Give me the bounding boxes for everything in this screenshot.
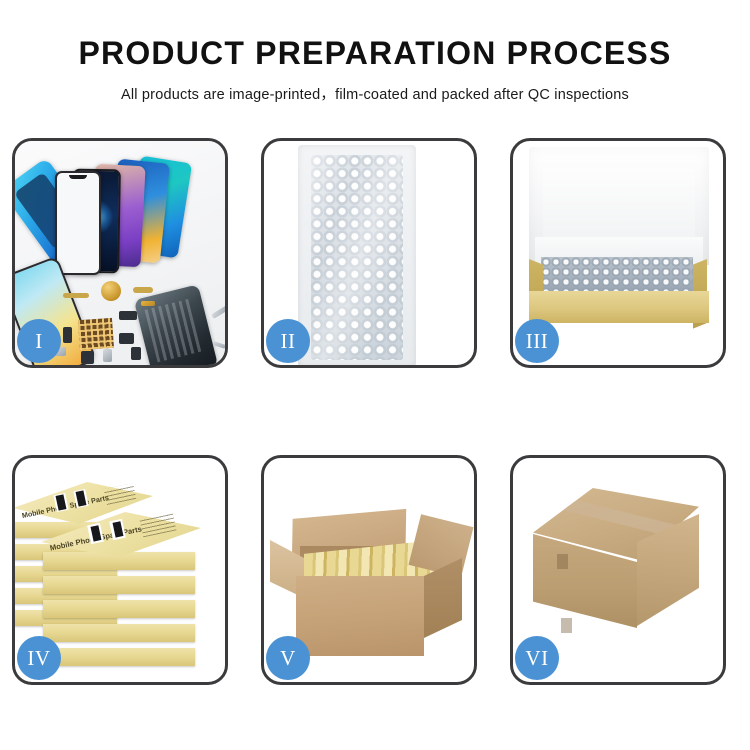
carton-front-face xyxy=(296,576,424,656)
phone-notch-icon xyxy=(69,175,87,179)
yellow-box-front-icon xyxy=(529,291,709,323)
camera-module-icon xyxy=(119,311,137,320)
step-badge-1: I xyxy=(17,319,61,363)
speaker-module-icon xyxy=(101,281,121,301)
plastic-sheen xyxy=(311,155,403,360)
phone-white-frame-icon xyxy=(55,171,101,275)
step-panel-5: V xyxy=(261,455,477,685)
stacked-box xyxy=(43,600,195,618)
small-part-icon xyxy=(63,327,72,343)
page-subtitle: All products are image-printed，film-coat… xyxy=(0,83,750,104)
battery-icon xyxy=(81,351,94,364)
vibrator-icon xyxy=(131,347,141,360)
step-panel-1: I xyxy=(12,138,228,368)
bubble-wrapped-product-icon xyxy=(541,257,693,293)
logic-board-icon xyxy=(78,318,114,350)
stacked-box xyxy=(43,648,195,666)
flex-cable-icon xyxy=(133,287,153,293)
step-panel-6: VI xyxy=(510,455,726,685)
step-badge-4: IV xyxy=(17,636,61,680)
step-panel-3: III xyxy=(510,138,726,368)
process-step-grid: I II III xyxy=(12,138,738,685)
flex-cable-icon xyxy=(63,293,89,298)
bubble-wrap-pouch-icon xyxy=(298,145,416,365)
step-badge-5: V xyxy=(266,636,310,680)
page-header: PRODUCT PREPARATION PROCESS All products… xyxy=(0,0,750,104)
step-panel-4: Mobile Phone Spare Parts Mobile Phone Sp… xyxy=(12,455,228,685)
carton-handle-notch xyxy=(557,554,568,569)
step-badge-3: III xyxy=(515,319,559,363)
connector-icon xyxy=(141,301,155,306)
page-title: PRODUCT PREPARATION PROCESS xyxy=(0,36,750,71)
step-badge-6: VI xyxy=(515,636,559,680)
stacked-box xyxy=(43,576,195,594)
step-badge-2: II xyxy=(266,319,310,363)
stacked-box xyxy=(43,624,195,642)
sim-tray-icon xyxy=(103,349,112,362)
carton-handle-notch xyxy=(561,618,572,633)
step-panel-2: II xyxy=(261,138,477,368)
small-part-icon xyxy=(119,333,134,344)
